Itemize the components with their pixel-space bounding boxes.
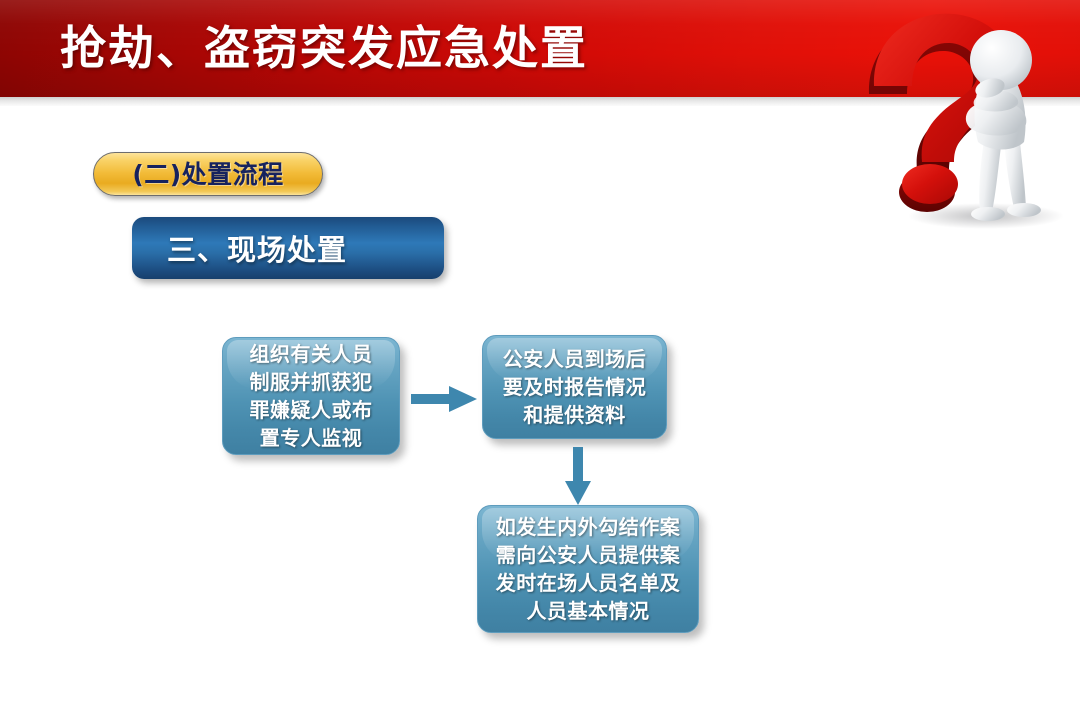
section-banner-text: 三、现场处置	[132, 227, 347, 269]
slide-canvas: 抢劫、盗窃突发应急处置	[0, 0, 1080, 720]
flow-box-organize-subdue: 组织有关人员 制服并抓获犯 罪嫌疑人或布 置专人监视	[222, 337, 400, 455]
arrow-right-icon	[411, 383, 477, 415]
section-label-pill: (二)处置流程	[93, 152, 323, 196]
flow-box-text: 公安人员到场后 要及时报告情况 和提供资料	[493, 345, 657, 429]
page-title: 抢劫、盗窃突发应急处置	[60, 18, 588, 78]
flow-box-police-report: 公安人员到场后 要及时报告情况 和提供资料	[482, 335, 667, 439]
header-underline	[0, 97, 1080, 106]
flow-box-text: 组织有关人员 制服并抓获犯 罪嫌疑人或布 置专人监视	[240, 340, 383, 452]
section-banner: 三、现场处置	[132, 217, 444, 279]
flow-box-text: 如发生内外勾结作案 需向公安人员提供案 发时在场人员名单及 人员基本情况	[486, 513, 691, 625]
flow-box-insider-collusion: 如发生内外勾结作案 需向公安人员提供案 发时在场人员名单及 人员基本情况	[477, 505, 699, 633]
arrow-down-icon	[562, 447, 594, 505]
section-label-text: (二)处置流程	[132, 162, 283, 187]
